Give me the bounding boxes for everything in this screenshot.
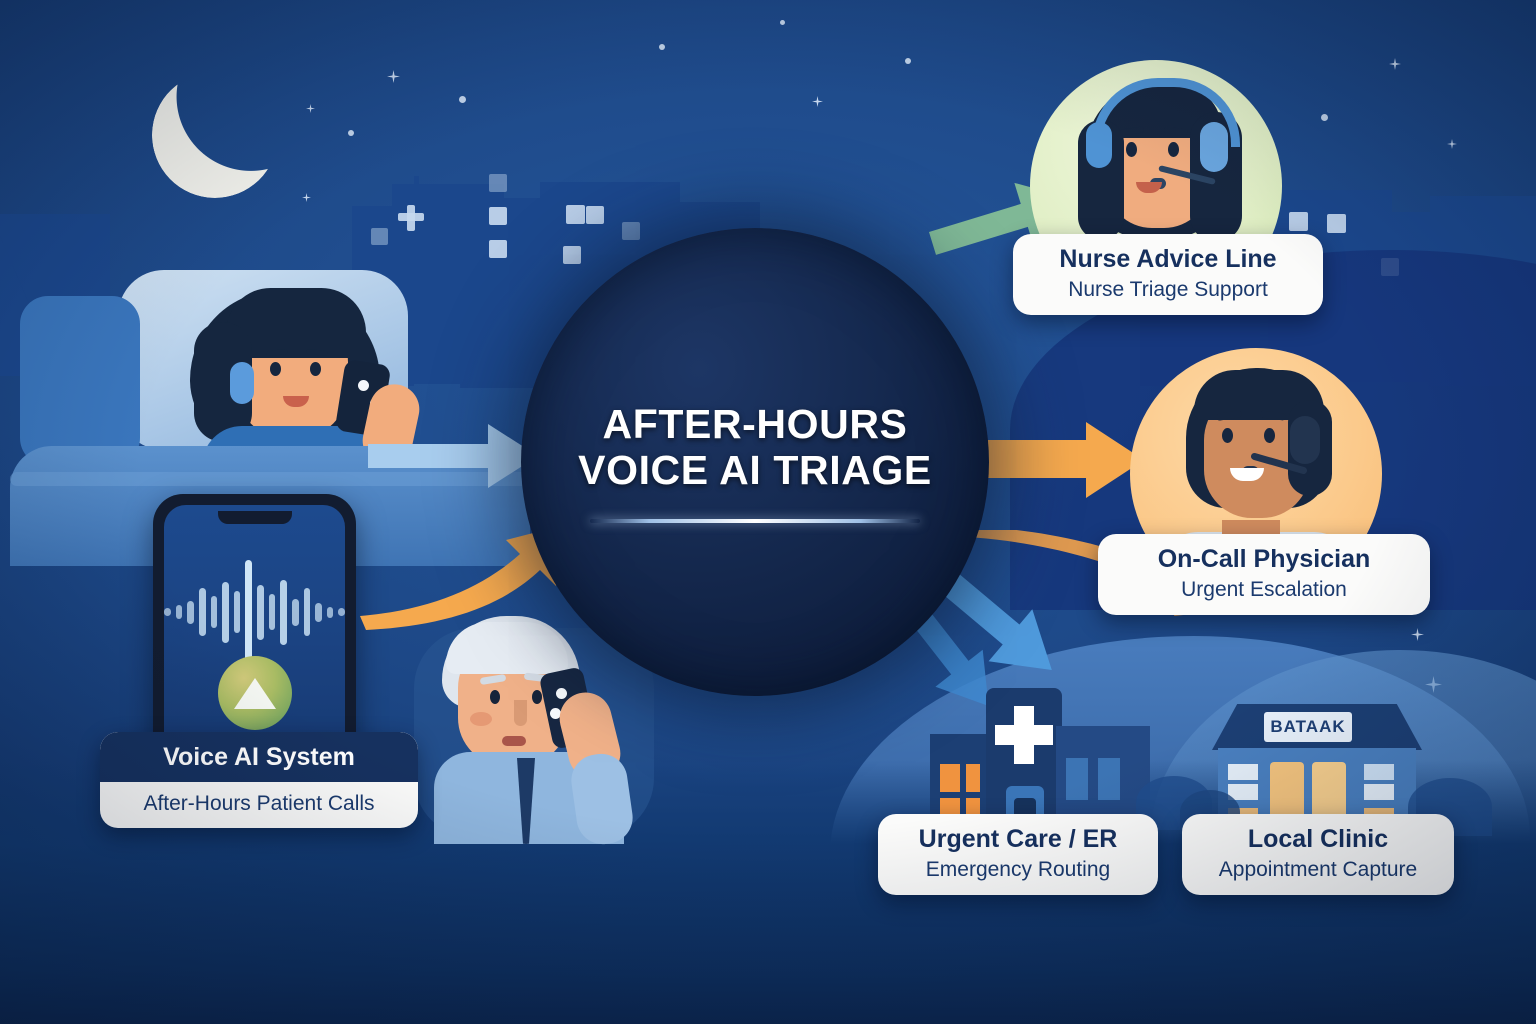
- waveform-bar: [199, 588, 206, 636]
- card-on-call-physician[interactable]: On-Call Physician Urgent Escalation: [1098, 534, 1430, 615]
- clinic-sign: BATAAK: [1264, 712, 1352, 742]
- waveform-bar: [292, 599, 299, 626]
- hub-title-line2: VOICE AI TRIAGE: [545, 447, 965, 493]
- waveform-bar: [176, 605, 183, 619]
- waveform-bar: [304, 588, 311, 636]
- waveform-bar: [222, 582, 229, 643]
- card-nurse-advice-line[interactable]: Nurse Advice Line Nurse Triage Support: [1013, 234, 1323, 315]
- card-subtitle: Nurse Triage Support: [1033, 277, 1303, 302]
- card-subtitle: After-Hours Patient Calls: [100, 782, 418, 828]
- hub-divider: [590, 519, 920, 523]
- card-subtitle: Emergency Routing: [898, 857, 1138, 882]
- card-title: Voice AI System: [100, 732, 418, 782]
- waveform-bar: [257, 585, 264, 640]
- card-title: Urgent Care / ER: [898, 825, 1138, 854]
- card-title: Nurse Advice Line: [1033, 245, 1303, 274]
- waveform-bar: [187, 601, 194, 624]
- waveform-bar: [234, 591, 241, 633]
- waveform-bar: [269, 594, 276, 630]
- card-subtitle: Appointment Capture: [1202, 857, 1434, 882]
- waveform-bar: [327, 607, 334, 618]
- waveform-bar: [164, 608, 171, 616]
- hub-title-line1: AFTER-HOURS: [545, 401, 965, 447]
- waveform-bar: [315, 603, 322, 622]
- card-title: Local Clinic: [1202, 825, 1434, 854]
- star-icon: [1411, 628, 1424, 641]
- card-voice-ai-system[interactable]: Voice AI System After-Hours Patient Call…: [100, 732, 418, 828]
- hub-title: AFTER-HOURS VOICE AI TRIAGE: [545, 401, 965, 494]
- phone-screen: [164, 505, 345, 752]
- central-hub: AFTER-HOURS VOICE AI TRIAGE: [521, 228, 989, 696]
- infographic-canvas: BATAAK AFTER-HOURS VOICE AI TRIAGE Voice…: [0, 0, 1536, 1024]
- clinic-sign-text: BATAAK: [1270, 717, 1345, 737]
- voice-assistant-button-icon[interactable]: [218, 656, 292, 730]
- card-title: On-Call Physician: [1118, 545, 1410, 574]
- card-local-clinic[interactable]: Local Clinic Appointment Capture: [1182, 814, 1454, 895]
- card-urgent-care-er[interactable]: Urgent Care / ER Emergency Routing: [878, 814, 1158, 895]
- voice-waveform-icon: [164, 557, 345, 667]
- waveform-bar: [245, 560, 252, 665]
- waveform-bar: [280, 580, 287, 645]
- voice-ai-phone: [153, 494, 356, 752]
- card-subtitle: Urgent Escalation: [1118, 577, 1410, 602]
- phone-notch: [218, 511, 292, 524]
- waveform-bar: [338, 608, 345, 616]
- waveform-bar: [211, 596, 218, 628]
